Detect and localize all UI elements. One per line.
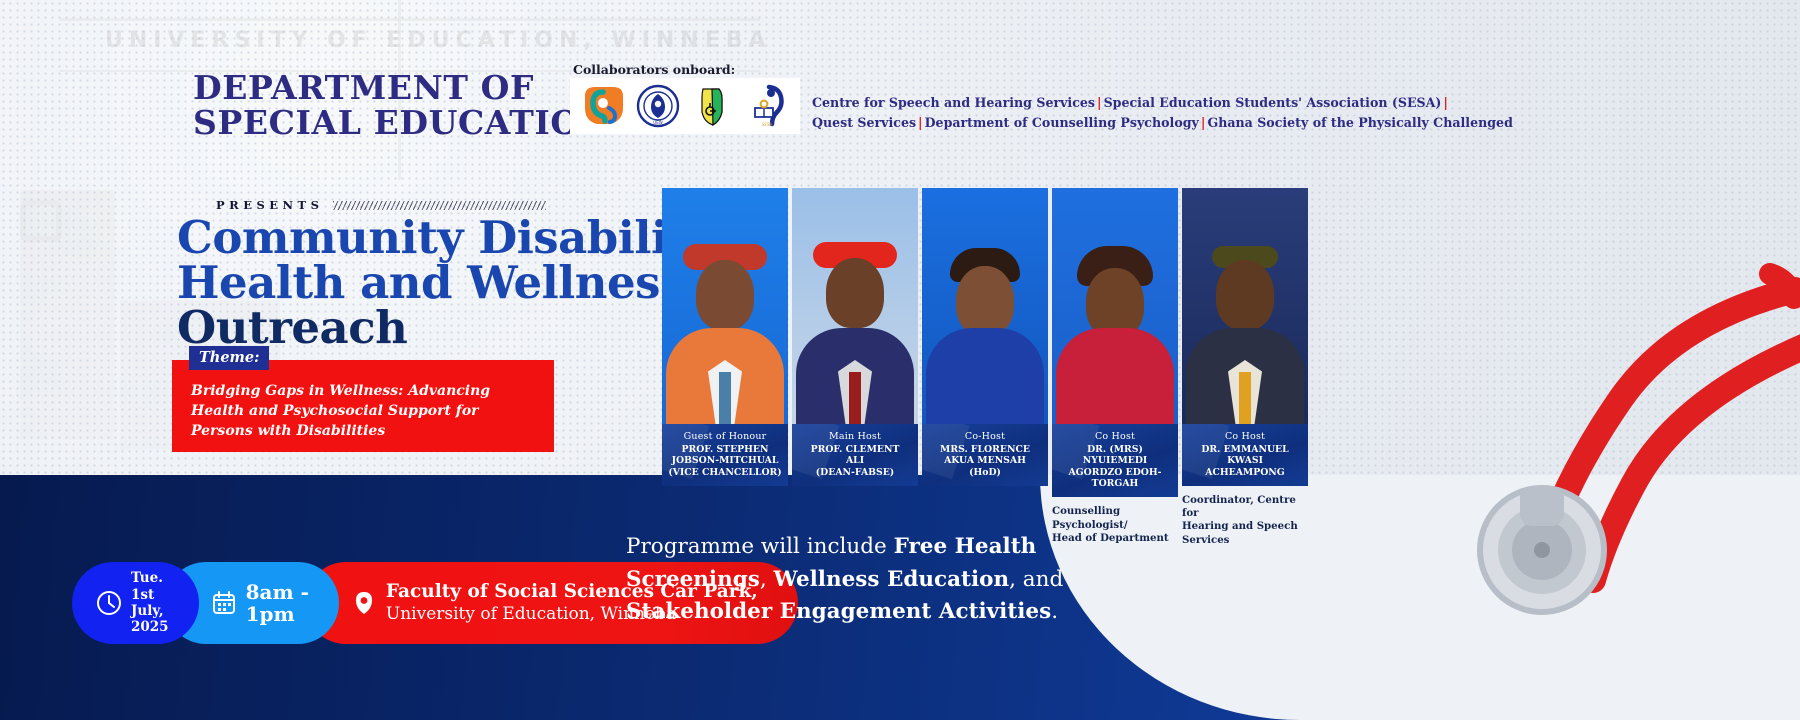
collaborator-name: Department of Counselling Psychology <box>925 115 1199 130</box>
theme-tag: Theme: <box>189 346 269 370</box>
speaker-role: Main Host <box>796 431 914 442</box>
speaker-photo <box>792 188 918 424</box>
speaker-role: Guest of Honour <box>666 431 784 442</box>
location-pin-icon <box>351 590 377 616</box>
calendar-icon <box>211 590 237 616</box>
speaker-name: DR. (MRS) NYUIEMEDI AGORDZO EDOH-TORGAH <box>1056 444 1174 489</box>
department-heading: DEPARTMENT OF SPECIAL EDUCATION <box>193 70 611 141</box>
speaker-caption: Main Host PROF. CLEMENT ALI (DEAN-FABSE) <box>792 424 918 486</box>
speaker-card-list: Guest of Honour PROF. STEPHEN JOBSON-MIT… <box>662 188 1308 547</box>
speaker-photo <box>662 188 788 424</box>
department-line-1: DEPARTMENT OF <box>193 70 611 105</box>
programme-prefix: Programme will include <box>626 534 894 559</box>
event-title-line-2: Health and Wellness <box>177 260 713 305</box>
theme-text: Bridging Gaps in Wellness: Advancing Hea… <box>172 360 554 452</box>
speaker-role: Co-Host <box>926 431 1044 442</box>
collaborator-separator: | <box>1441 95 1450 110</box>
speaker-role: Co Host <box>1056 431 1174 442</box>
collaborators-line-1: Centre for Speech and Hearing Services|S… <box>812 93 1513 113</box>
collaborator-separator: | <box>916 115 925 130</box>
speaker-card: Co-Host MRS. FLORENCE AKUA MENSAH (HoD) <box>922 188 1048 486</box>
event-title-line-1: Community Disability <box>177 215 713 260</box>
event-title-line-3: Outreach <box>177 305 713 350</box>
speaker-name: PROF. STEPHEN JOBSON-MITCHUAL (VICE CHAN… <box>666 444 784 478</box>
collaborator-name: Centre for Speech and Hearing Services <box>812 95 1095 110</box>
presents-label: PRESENTS <box>216 198 323 212</box>
speaker-name: MRS. FLORENCE AKUA MENSAH (HoD) <box>926 444 1044 478</box>
speaker-caption: Guest of Honour PROF. STEPHEN JOBSON-MIT… <box>662 424 788 486</box>
presents-divider <box>333 201 546 210</box>
speaker-photo <box>922 188 1048 424</box>
speech-hearing-logo-icon <box>581 84 625 128</box>
ghana-map-logo-icon <box>690 84 734 128</box>
programme-description: Programme will include Free Health Scree… <box>626 531 1146 628</box>
collaborator-separator: | <box>1095 95 1104 110</box>
speaker-name: PROF. CLEMENT ALI (DEAN-FABSE) <box>796 444 914 478</box>
sesa-logo-icon: SESA <box>745 84 789 128</box>
programme-suffix: . <box>1051 599 1058 624</box>
svg-text:UEW: UEW <box>653 120 662 125</box>
time-text: 8am - 1pm <box>246 581 309 625</box>
programme-highlight-3: Stakeholder Engagement Activities <box>626 599 1051 624</box>
programme-mid-1: , <box>760 567 774 592</box>
speaker-card: Co Host DR. (MRS) NYUIEMEDI AGORDZO EDOH… <box>1052 188 1178 545</box>
speaker-card: Guest of Honour PROF. STEPHEN JOBSON-MIT… <box>662 188 788 486</box>
speaker-caption: Co-Host MRS. FLORENCE AKUA MENSAH (HoD) <box>922 424 1048 486</box>
collaborator-name: Quest Services <box>812 115 916 130</box>
programme-highlight-2: Wellness Education <box>774 567 1010 592</box>
programme-mid-2: , and <box>1009 567 1063 592</box>
uew-crest-logo-icon: UEW <box>636 84 680 128</box>
presents-row: PRESENTS <box>216 198 546 212</box>
collaborators-line-2: Quest Services|Department of Counselling… <box>812 113 1513 133</box>
collaborator-logo-strip: UEW SESA <box>570 78 800 134</box>
event-title: Community Disability Health and Wellness… <box>177 215 713 350</box>
speaker-card: Main Host PROF. CLEMENT ALI (DEAN-FABSE) <box>792 188 918 486</box>
date-pill[interactable]: Tue. 1st July, 2025 <box>72 562 199 644</box>
speaker-photo <box>1052 188 1178 424</box>
department-line-2: SPECIAL EDUCATION <box>193 105 611 140</box>
clock-icon <box>96 590 122 616</box>
speaker-caption: Co Host DR. (MRS) NYUIEMEDI AGORDZO EDOH… <box>1052 424 1178 497</box>
svg-text:SESA: SESA <box>762 122 773 127</box>
collaborator-name: Special Education Students' Association … <box>1104 95 1442 110</box>
stethoscope-icon <box>1270 250 1800 720</box>
collaborator-name: Ghana Society of the Physically Challeng… <box>1207 115 1512 130</box>
date-text: Tue. 1st July, 2025 <box>131 570 169 636</box>
collaborators-label: Collaborators onboard: <box>573 62 735 77</box>
collaborators-names: Centre for Speech and Hearing Services|S… <box>812 93 1513 132</box>
flyer-canvas: UNIVERSITY OF EDUCATION, WINNEBA DEPARTM… <box>0 0 1800 720</box>
